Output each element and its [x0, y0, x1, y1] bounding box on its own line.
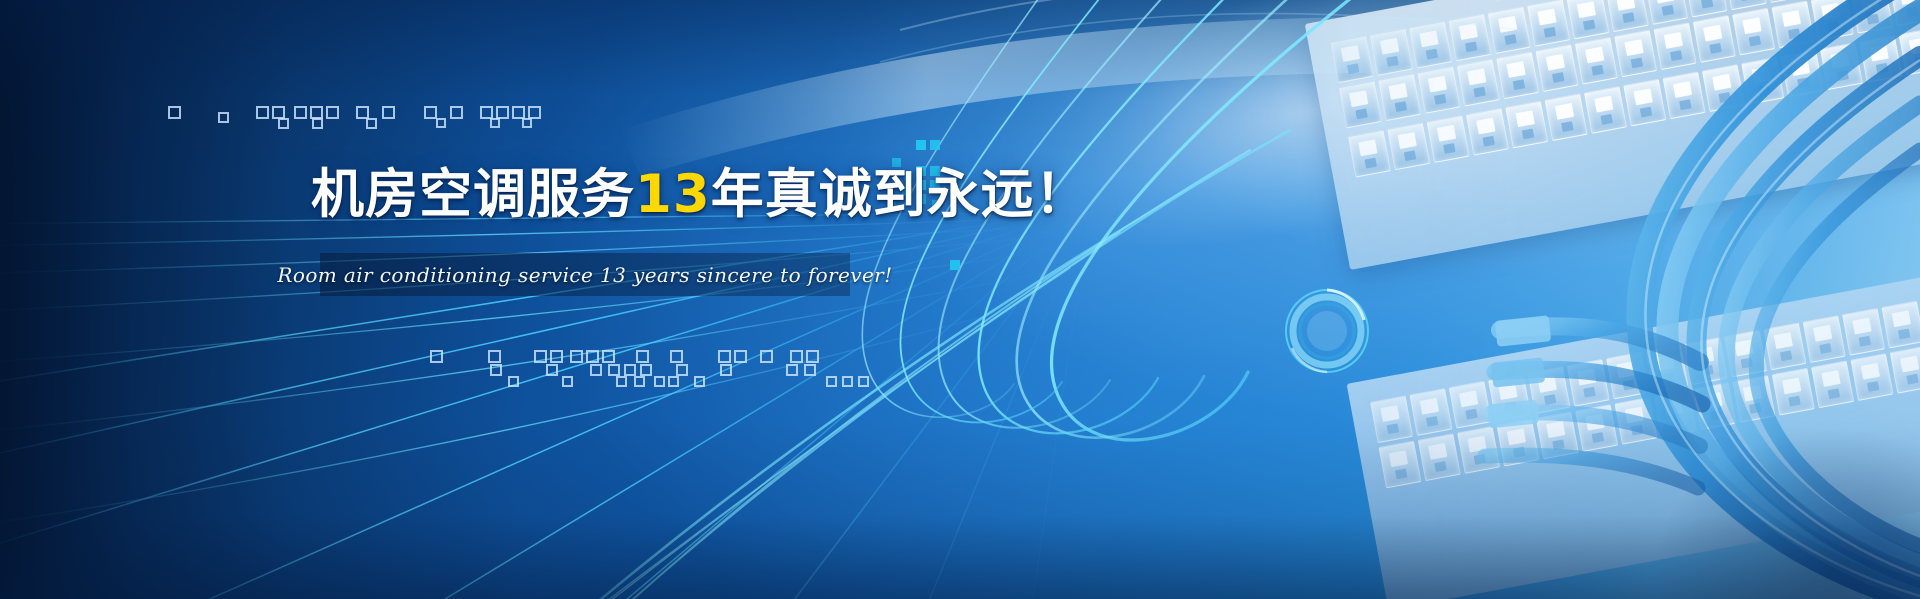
headline-number: 13 — [635, 164, 711, 225]
hero-banner: 机房空调服务13年真诚到永远！ Room air conditioning se… — [0, 0, 1920, 599]
bottom-vignette — [0, 0, 1920, 599]
headline-part2: 年真诚到永远！ — [711, 164, 1089, 225]
subtitle-bar: Room air conditioning service 13 years s… — [320, 253, 850, 296]
headline-part1: 机房空调服务 — [311, 164, 635, 225]
subtitle-text: Room air conditioning service 13 years s… — [277, 263, 892, 287]
page-title: 机房空调服务13年真诚到永远！ — [311, 166, 1089, 224]
